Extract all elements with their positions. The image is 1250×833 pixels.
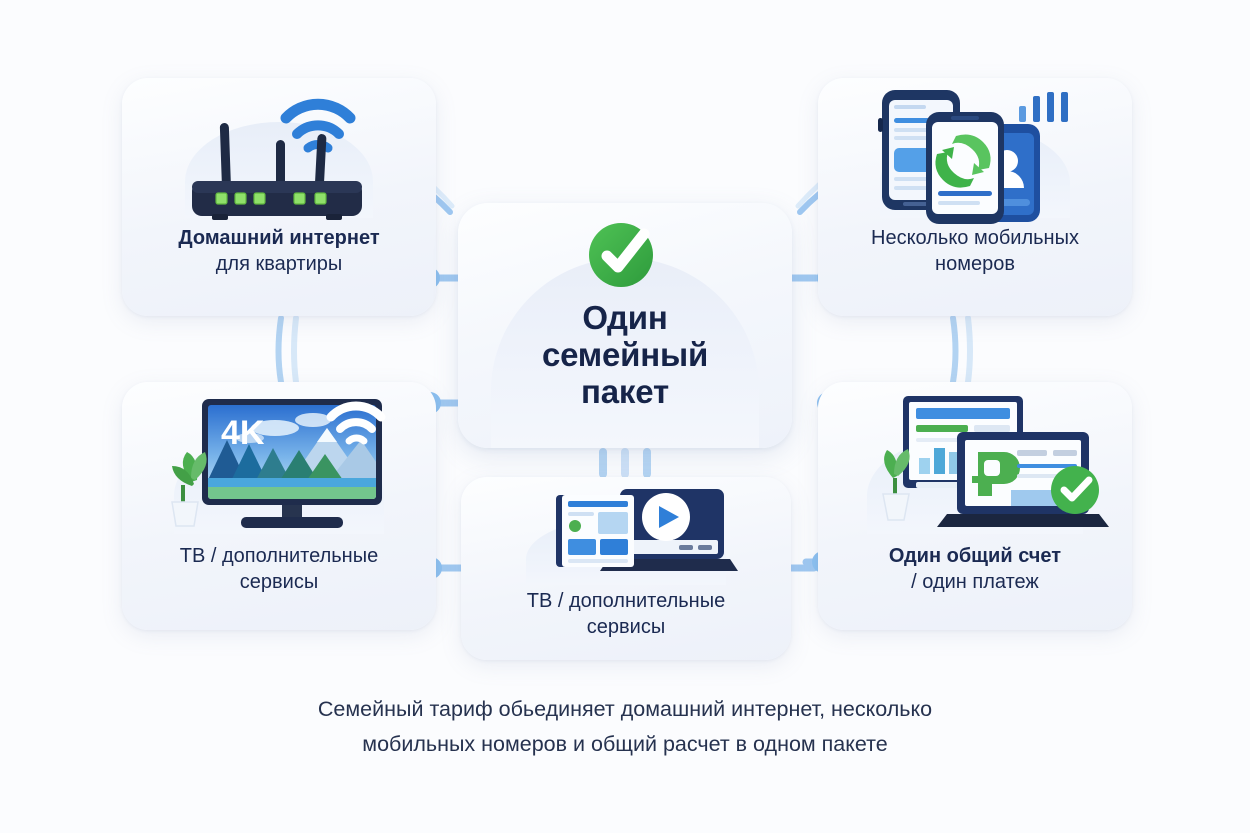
hub-title-line2: семейный <box>542 337 708 374</box>
hub-title: Один семейный пакет <box>542 300 708 411</box>
hub-title-line3: пакет <box>542 374 708 411</box>
card-family-package-hub[interactable]: Один семейный пакет <box>458 203 792 448</box>
card-label-line2: номеров <box>828 252 1122 278</box>
billing-artwork <box>818 382 1132 544</box>
plant-icon <box>172 452 207 526</box>
caption-line1: Семейный тариф обьединяет домашний интер… <box>0 692 1250 727</box>
home-internet-artwork <box>122 78 436 226</box>
card-single-bill[interactable]: Один общий счет / один платеж <box>818 382 1132 630</box>
mobile-numbers-artwork <box>818 78 1132 226</box>
card-home-internet[interactable]: Домашний интернет для квартиры <box>122 78 436 316</box>
hub-title-line1: Один <box>542 300 708 337</box>
card-tv-services[interactable]: 4K ТВ / <box>122 382 436 630</box>
card-label: Один общий счет / один платеж <box>818 544 1132 595</box>
tv-4k-icon: 4K <box>145 382 413 544</box>
video-services-artwork <box>461 477 791 589</box>
card-label-line1: Несколько мобильных <box>828 226 1122 252</box>
card-label-line1: Один общий счет <box>828 544 1122 570</box>
signal-bars-icon <box>1019 92 1068 122</box>
card-label-line1: Домашний интернет <box>132 226 426 252</box>
card-label: ТВ / дополнительные сервисы <box>122 544 436 595</box>
card-label-line2: / один платеж <box>828 570 1122 596</box>
caption: Семейный тариф обьединяет домашний интер… <box>0 692 1250 762</box>
card-label-line2: сервисы <box>132 570 426 596</box>
dashboard-panel <box>556 495 634 567</box>
caption-line2: мобильных номеров и общий расчет в одном… <box>0 727 1250 762</box>
tv-artwork: 4K <box>122 382 436 544</box>
hub-check-wrap <box>583 217 667 296</box>
card-label-line1: ТВ / дополнительные <box>471 589 781 615</box>
card-label: Несколько мобильных номеров <box>818 226 1132 277</box>
card-label-line2: для квартиры <box>132 252 426 278</box>
infographic-canvas: Домашний интернет для квартиры <box>0 0 1250 833</box>
green-check-circle-icon <box>583 217 667 291</box>
card-video-services[interactable]: ТВ / дополнительные сервисы <box>461 477 791 660</box>
resolution-badge: 4K <box>221 414 265 452</box>
multiple-phones-icon <box>856 78 1094 226</box>
card-label-line2: сервисы <box>471 615 781 641</box>
video-player-monitor-icon <box>508 477 744 589</box>
green-check-circle-icon <box>1051 466 1099 514</box>
card-label: ТВ / дополнительные сервисы <box>461 589 791 640</box>
billing-laptop-icon <box>841 382 1109 544</box>
card-label-line1: ТВ / дополнительные <box>132 544 426 570</box>
card-mobile-numbers[interactable]: Несколько мобильных номеров <box>818 78 1132 316</box>
card-label: Домашний интернет для квартиры <box>122 226 436 277</box>
wifi-router-icon <box>164 78 394 226</box>
phone-front <box>926 112 1004 224</box>
